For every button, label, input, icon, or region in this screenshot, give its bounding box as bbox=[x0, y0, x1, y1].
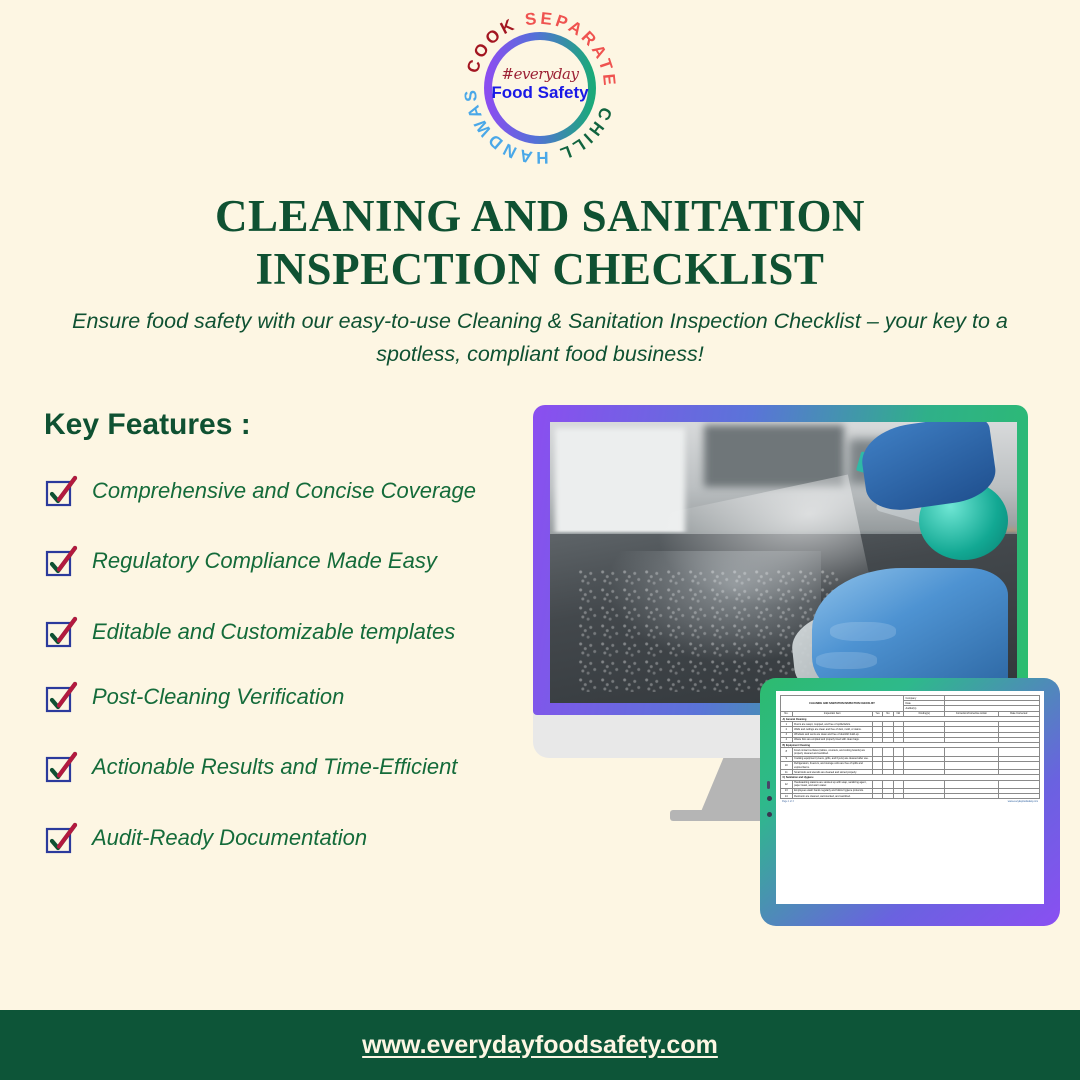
cell-findings[interactable] bbox=[904, 761, 945, 769]
cell-findings[interactable] bbox=[904, 780, 945, 788]
feature-label: Comprehensive and Concise Coverage bbox=[92, 478, 476, 504]
cell-na[interactable] bbox=[893, 794, 903, 799]
tablet-device: CLEANING AND SANITATION INSPECTION CHECK… bbox=[760, 678, 1060, 926]
page-subtitle: Ensure food safety with our easy-to-use … bbox=[40, 305, 1040, 370]
website-url-link[interactable]: www.everydayfoodsafety.com bbox=[362, 1031, 718, 1060]
checkmark-icon bbox=[44, 821, 78, 855]
feature-item: Comprehensive and Concise Coverage bbox=[44, 458, 514, 523]
checkmark-icon bbox=[44, 544, 78, 578]
row-item: Refrigerators, freezers, and storage uni… bbox=[792, 761, 872, 769]
feature-item: Audit-Ready Documentation bbox=[44, 805, 514, 870]
cell-action[interactable] bbox=[945, 761, 998, 769]
table-row: 8 Food contact surfaces (tables, counter… bbox=[781, 748, 1040, 756]
cell-yes[interactable] bbox=[872, 761, 882, 769]
cell-action[interactable] bbox=[945, 780, 998, 788]
tablet-volume-button[interactable] bbox=[767, 781, 770, 789]
cell-no[interactable] bbox=[883, 748, 893, 756]
feature-item: Post-Cleaning Verification bbox=[44, 664, 514, 729]
page-title-line1: CLEANING AND SANITATION bbox=[215, 191, 865, 241]
logo: COOK SEPARATE CHILL HANDWASH #everyday F… bbox=[440, 4, 640, 164]
feature-label: Editable and Customizable templates bbox=[92, 619, 455, 645]
checklist-document: CLEANING AND SANITATION INSPECTION CHECK… bbox=[776, 691, 1044, 904]
document-title: CLEANING AND SANITATION INSPECTION CHECK… bbox=[781, 696, 904, 712]
logo-brand-text: Food Safety bbox=[480, 83, 600, 102]
cell-date[interactable] bbox=[998, 794, 1039, 799]
cell-na[interactable] bbox=[893, 780, 903, 788]
row-item: Handwashing stations are stocked up with… bbox=[792, 780, 872, 788]
table-row: 10 Refrigerators, freezers, and storage … bbox=[781, 761, 1040, 769]
document-page-number: Page 1 of 3 bbox=[782, 801, 794, 803]
tablet-button-two[interactable] bbox=[767, 812, 772, 817]
cell-findings[interactable] bbox=[904, 794, 945, 799]
key-features-list: Comprehensive and Concise Coverage Regul… bbox=[44, 458, 514, 870]
row-number: 12 bbox=[781, 780, 793, 788]
document-footer: Page 1 of 3 www.everydayfoodsafety.com bbox=[780, 799, 1040, 803]
feature-label: Post-Cleaning Verification bbox=[92, 684, 344, 710]
logo-inner-text: #everyday Food Safety bbox=[480, 66, 600, 102]
cell-yes[interactable] bbox=[872, 780, 882, 788]
cell-na[interactable] bbox=[893, 761, 903, 769]
cleaning-photo bbox=[550, 422, 1017, 703]
cell-no[interactable] bbox=[883, 780, 893, 788]
checkmark-icon bbox=[44, 474, 78, 508]
feature-label: Actionable Results and Time-Efficient bbox=[92, 754, 457, 780]
footer-banner: www.everydayfoodsafety.com bbox=[0, 1010, 1080, 1080]
checkmark-icon bbox=[44, 615, 78, 649]
table-row: 14 Restroom are cleaned, well-stocked, a… bbox=[781, 794, 1040, 799]
feature-item: Editable and Customizable templates bbox=[44, 599, 514, 664]
row-number: 14 bbox=[781, 794, 793, 799]
row-number: 10 bbox=[781, 761, 793, 769]
feature-label: Audit-Ready Documentation bbox=[92, 825, 367, 851]
tablet-button-one[interactable] bbox=[767, 796, 772, 801]
feature-item: Actionable Results and Time-Efficient bbox=[44, 729, 514, 805]
page-title: CLEANING AND SANITATION INSPECTION CHECK… bbox=[0, 190, 1080, 295]
document-footer-url: www.everydayfoodsafety.com bbox=[1008, 801, 1038, 803]
cell-date[interactable] bbox=[998, 761, 1039, 769]
cell-na[interactable] bbox=[893, 748, 903, 756]
checkmark-icon bbox=[44, 680, 78, 714]
desktop-monitor bbox=[533, 405, 1028, 715]
monitor-screen bbox=[550, 422, 1017, 703]
feature-label: Regulatory Compliance Made Easy bbox=[92, 548, 437, 574]
checklist-header-table: CLEANING AND SANITATION INSPECTION CHECK… bbox=[780, 695, 1040, 799]
cell-no[interactable] bbox=[883, 761, 893, 769]
device-mockup: CLEANING AND SANITATION INSPECTION CHECK… bbox=[510, 398, 1070, 948]
logo-script-text: #everyday bbox=[480, 66, 600, 83]
row-number: 8 bbox=[781, 748, 793, 756]
cell-yes[interactable] bbox=[872, 748, 882, 756]
cell-date[interactable] bbox=[998, 748, 1039, 756]
page-title-line2: INSPECTION CHECKLIST bbox=[256, 244, 825, 294]
row-item: Restroom are cleaned, well-stocked, and … bbox=[792, 794, 872, 799]
cell-date[interactable] bbox=[998, 780, 1039, 788]
cell-no[interactable] bbox=[883, 794, 893, 799]
checkmark-icon bbox=[44, 750, 78, 784]
row-item: Food contact surfaces (tables, counters,… bbox=[792, 748, 872, 756]
table-row: 12 Handwashing stations are stocked up w… bbox=[781, 780, 1040, 788]
cell-yes[interactable] bbox=[872, 794, 882, 799]
tablet-screen: CLEANING AND SANITATION INSPECTION CHECK… bbox=[776, 691, 1044, 904]
cell-action[interactable] bbox=[945, 794, 998, 799]
key-features-heading: Key Features : bbox=[44, 408, 251, 442]
cell-action[interactable] bbox=[945, 748, 998, 756]
cell-findings[interactable] bbox=[904, 748, 945, 756]
feature-item: Regulatory Compliance Made Easy bbox=[44, 523, 514, 599]
